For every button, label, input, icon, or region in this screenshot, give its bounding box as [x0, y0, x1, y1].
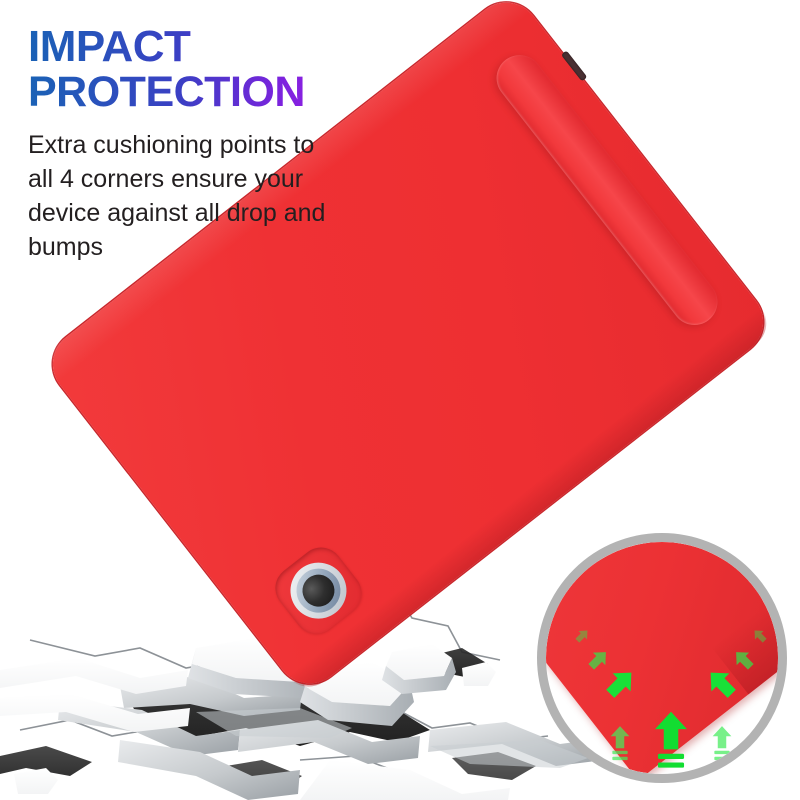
arrow-right-small	[750, 626, 769, 645]
product-banner: IMPACT PROTECTION Extra cushioning point…	[0, 0, 800, 800]
arrow-left-small	[573, 626, 592, 645]
headline-line-1: IMPACT	[28, 24, 368, 70]
impact-arrows-group	[546, 542, 778, 774]
headline-line-2: PROTECTION	[28, 70, 368, 115]
arrow-right-medium	[730, 646, 757, 673]
magnifier-ring	[537, 533, 787, 783]
arrow-bottom-right	[713, 726, 732, 760]
arrow-right-large	[702, 664, 741, 703]
arrow-left-large	[601, 664, 640, 703]
text-block: IMPACT PROTECTION Extra cushioning point…	[28, 24, 368, 264]
arrow-bottom-center	[655, 712, 687, 768]
body-description: Extra cushioning points to all 4 corners…	[28, 128, 328, 264]
camera-lens	[296, 568, 341, 613]
arrow-left-medium	[585, 646, 612, 673]
arrow-bottom-left	[611, 726, 630, 760]
camera-inner-ring	[288, 560, 350, 622]
corner-detail-inset	[537, 533, 787, 783]
magnifier-content	[546, 542, 778, 774]
